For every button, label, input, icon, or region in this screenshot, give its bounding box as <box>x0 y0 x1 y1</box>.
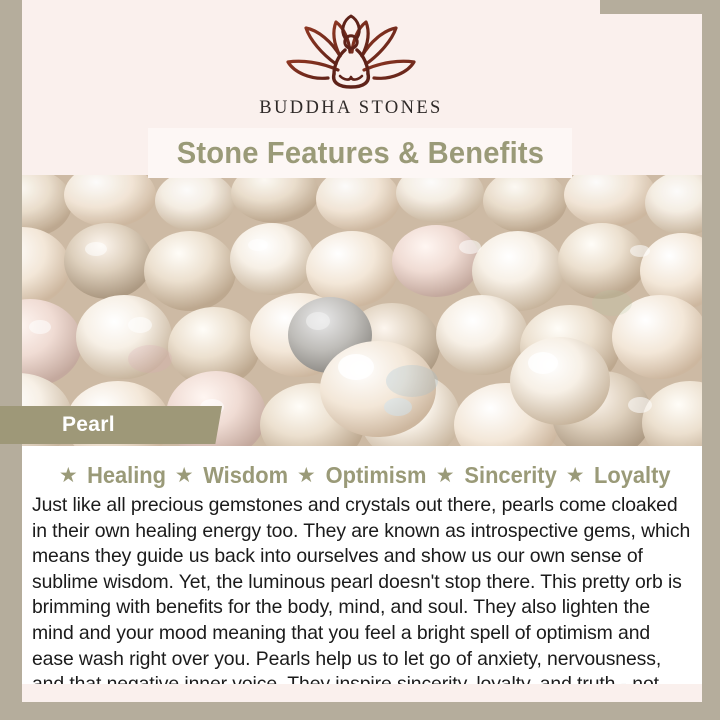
keyword-label: Optimism <box>325 462 426 489</box>
brand-name: BUDDHA STONES <box>0 98 702 119</box>
keyword-item-loyalty: ★ Loyalty <box>559 462 672 489</box>
page-title: Stone Features & Benefits <box>176 135 543 171</box>
star-icon: ★ <box>297 465 316 486</box>
keyword-list: ★ Healing ★ Wisdom ★ Optimism ★ Sincerit… <box>22 446 702 489</box>
frame-left-edge <box>0 0 22 720</box>
star-icon: ★ <box>566 465 585 486</box>
poster-root: BUDDHA STONES <box>0 0 720 720</box>
keyword-label: Wisdom <box>203 462 288 489</box>
stone-name: Pearl <box>62 413 115 437</box>
description-text: Just like all precious gemstones and cry… <box>32 493 692 702</box>
brand-header: BUDDHA STONES <box>0 14 702 119</box>
keyword-label: Healing <box>87 462 166 489</box>
keyword-label: Sincerity <box>464 462 556 489</box>
stone-name-band: Pearl <box>0 406 222 444</box>
keyword-label: Loyalty <box>594 462 671 489</box>
keyword-item-healing: ★ Healing <box>52 462 168 489</box>
keyword-item-wisdom: ★ Wisdom <box>168 462 290 489</box>
section-title-banner: Stone Features & Benefits <box>148 128 572 178</box>
panel-bottom-fill <box>22 684 702 702</box>
frame-top-right-corner <box>600 0 720 14</box>
pearl-photo-art <box>0 175 702 446</box>
keyword-item-sincerity: ★ Sincerity <box>429 462 559 489</box>
frame-right-edge <box>702 0 720 720</box>
keyword-item-optimism: ★ Optimism <box>290 462 429 489</box>
lotus-meditation-icon <box>276 14 426 92</box>
star-icon: ★ <box>175 465 194 486</box>
poster-card: BUDDHA STONES <box>0 0 702 702</box>
frame-bottom-left-corner <box>0 660 22 720</box>
content-panel: ★ Healing ★ Wisdom ★ Optimism ★ Sincerit… <box>22 446 702 702</box>
star-icon: ★ <box>59 465 78 486</box>
pearl-photo <box>0 175 702 446</box>
star-icon: ★ <box>436 465 455 486</box>
